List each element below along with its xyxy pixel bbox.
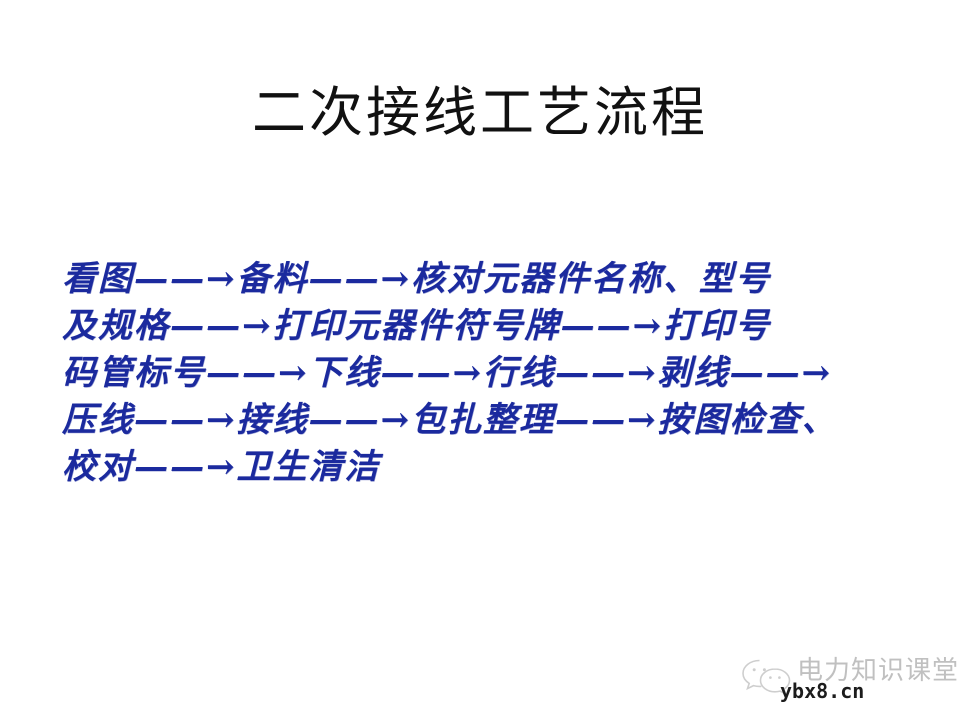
flow-line: 及规格——→打印元器件符号牌——→打印号 (62, 303, 948, 350)
flow-line: 码管标号——→下线——→行线——→剥线——→ (62, 350, 948, 397)
page-title: 二次接线工艺流程 (0, 82, 960, 144)
watermark: 电力知识课堂 ybx8.cn (739, 652, 954, 712)
process-flow-text: 看图——→备料——→核对元器件名称、型号 及规格——→打印元器件符号牌——→打印… (62, 256, 948, 491)
watermark-domain-label: ybx8.cn (780, 679, 864, 703)
flow-line: 校对——→卫生清洁 (62, 444, 948, 491)
slide-canvas: 二次接线工艺流程 看图——→备料——→核对元器件名称、型号 及规格——→打印元器… (0, 0, 960, 720)
flow-line: 看图——→备料——→核对元器件名称、型号 (62, 256, 948, 303)
flow-line: 压线——→接线——→包扎整理——→按图检查、 (62, 397, 948, 444)
